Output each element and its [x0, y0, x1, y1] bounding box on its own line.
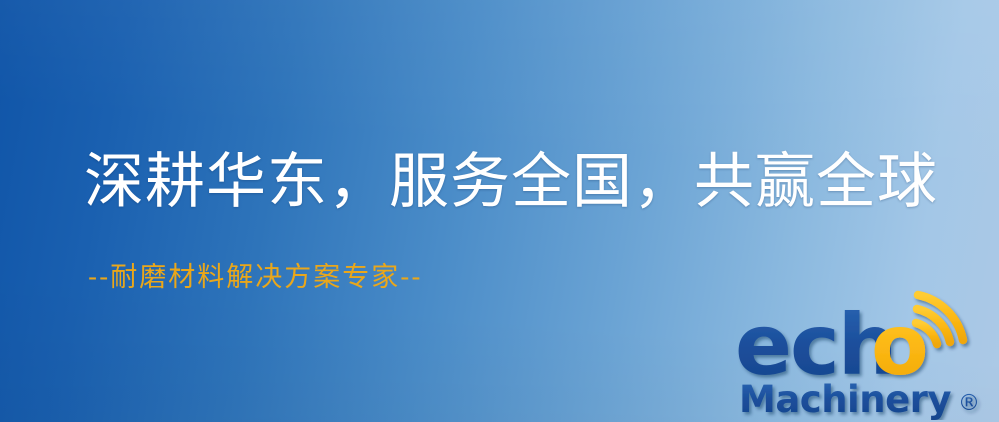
echo-machinery-logo[interactable]: ech o Machinery ®	[731, 288, 993, 420]
banner-headline: 深耕华东，服务全国，共赢全球	[84, 150, 938, 215]
banner-subtitle: --耐磨材料解决方案专家--	[84, 215, 938, 293]
logo-tagline: Machinery	[739, 378, 951, 420]
banner-text-block: 深耕华东，服务全国，共赢全球 --耐磨材料解决方案专家--	[84, 150, 938, 292]
logo-registered-mark: ®	[958, 391, 980, 416]
hero-banner: 深耕华东，服务全国，共赢全球 --耐磨材料解决方案专家--	[0, 0, 999, 422]
